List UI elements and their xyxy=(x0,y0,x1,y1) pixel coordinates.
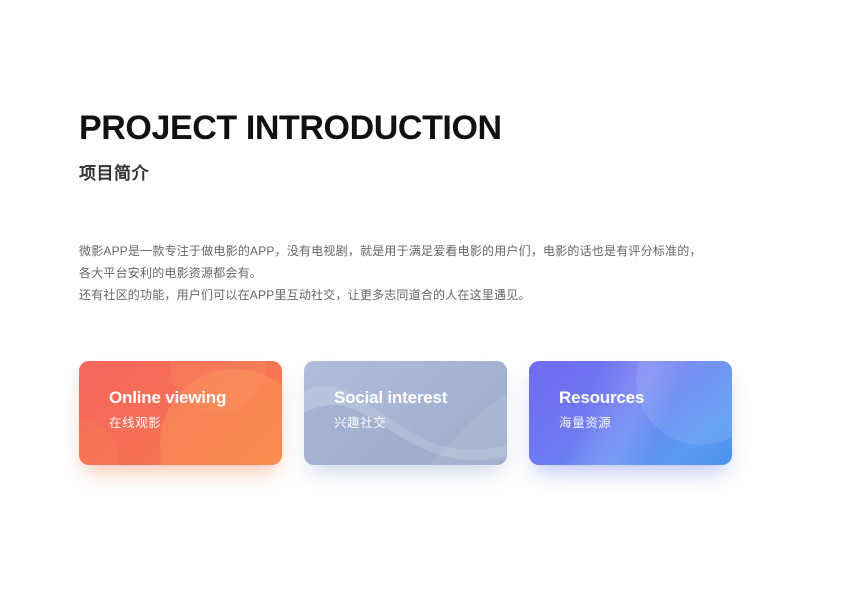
feature-card-online-viewing[interactable]: Online viewing 在线观影 xyxy=(79,361,282,465)
card-subtitle: 在线观影 xyxy=(109,413,282,433)
card-subtitle: 兴趣社交 xyxy=(334,413,507,433)
card-subtitle: 海量资源 xyxy=(559,413,732,433)
page-subtitle: 项目简介 xyxy=(79,162,779,186)
page-title: PROJECT INTRODUCTION xyxy=(79,108,779,148)
card-title: Resources xyxy=(559,387,732,409)
intro-line-2: 各大平台安利的电影资源都会有。 xyxy=(79,262,779,284)
card-content: Resources 海量资源 xyxy=(529,361,732,433)
card-content: Online viewing 在线观影 xyxy=(79,361,282,433)
intro-line-1: 微影APP是一款专注于做电影的APP，没有电视剧，就是用于满足爱看电影的用户们，… xyxy=(79,240,779,262)
feature-card-resources[interactable]: Resources 海量资源 xyxy=(529,361,732,465)
project-introduction-page: PROJECT INTRODUCTION 项目简介 微影APP是一款专注于做电影… xyxy=(0,0,849,600)
feature-cards-row: Online viewing 在线观影 Social interest 兴趣社交… xyxy=(79,361,732,465)
card-title: Social interest xyxy=(334,387,507,409)
card-title: Online viewing xyxy=(109,387,282,409)
heading-block: PROJECT INTRODUCTION 项目简介 xyxy=(79,108,779,186)
card-content: Social interest 兴趣社交 xyxy=(304,361,507,433)
intro-line-3: 还有社区的功能，用户们可以在APP里互动社交，让更多志同道合的人在这里遇见。 xyxy=(79,284,779,306)
feature-card-social-interest[interactable]: Social interest 兴趣社交 xyxy=(304,361,507,465)
intro-paragraph: 微影APP是一款专注于做电影的APP，没有电视剧，就是用于满足爱看电影的用户们，… xyxy=(79,240,779,306)
